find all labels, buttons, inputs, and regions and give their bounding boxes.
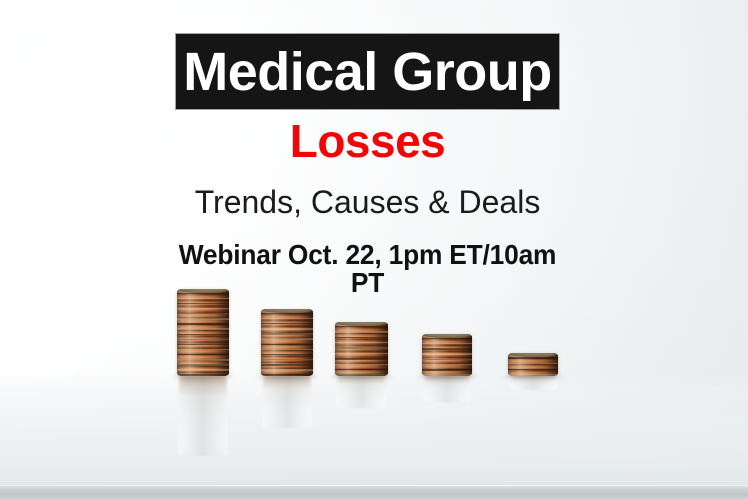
coin-edge-band xyxy=(422,348,472,349)
coin-stack-4 xyxy=(422,334,472,408)
page-title: Medical Group xyxy=(183,45,552,99)
coin-edge-band xyxy=(261,369,313,370)
coin-column xyxy=(261,309,313,376)
coin-edge-band xyxy=(177,374,229,375)
table-edge-highlight xyxy=(0,485,748,487)
coin-stack-reflection xyxy=(336,376,387,408)
coin-top-face xyxy=(509,353,557,357)
coin-stack-3 xyxy=(335,322,388,414)
coin-edge-band xyxy=(335,337,388,339)
coin-edge-band xyxy=(177,334,229,335)
coin-edge-band xyxy=(261,318,313,319)
coin-edge-band xyxy=(261,344,313,345)
subtitle: Trends, Causes & Deals xyxy=(160,186,575,218)
coin-edge-band xyxy=(177,318,229,319)
coin-edge-band xyxy=(335,342,388,344)
coin-edge-band xyxy=(177,364,229,365)
coin-edge-band xyxy=(508,374,558,376)
table-front-edge xyxy=(0,486,748,500)
coin-edge-band xyxy=(177,323,229,324)
coin-edge-band xyxy=(261,333,313,334)
coin-stack-reflection xyxy=(178,376,228,456)
coin-edge-band xyxy=(335,369,388,371)
coin-top-face xyxy=(262,309,312,313)
coin-column xyxy=(335,322,388,376)
coin-edge-band xyxy=(261,349,313,350)
coin-stack-reflection-tint xyxy=(511,376,555,380)
event-details-line: Webinar Oct. 22, 1pm ET/10am PT xyxy=(172,241,562,297)
coin-edge-band xyxy=(422,359,472,360)
coin-stack-1 xyxy=(177,289,229,462)
coin-top-face xyxy=(423,334,471,338)
coin-edge-band xyxy=(335,347,388,349)
coin-edge-band xyxy=(261,354,313,355)
coin-edge-band xyxy=(422,374,472,375)
coin-edge-band xyxy=(508,363,558,365)
coin-edge-band xyxy=(261,359,313,360)
webinar-promo-poster: Medical Group Losses Trends, Causes & De… xyxy=(0,0,748,500)
coin-edge-band xyxy=(335,374,388,376)
coin-column xyxy=(177,289,229,376)
coin-edge-band xyxy=(335,358,388,360)
coin-edge-band xyxy=(177,354,229,355)
coin-edge-band xyxy=(508,357,558,359)
coin-stack-reflection xyxy=(423,376,471,402)
coin-edge-band xyxy=(422,369,472,370)
coin-edge-band xyxy=(261,364,313,365)
coin-edge-band xyxy=(422,353,472,354)
coin-edge-band xyxy=(177,339,229,340)
coin-edge-band xyxy=(177,308,229,309)
coin-stack-reflection-tint xyxy=(425,376,469,383)
coin-edge-band xyxy=(177,349,229,350)
coin-edge-band xyxy=(177,298,229,299)
coin-stack-reflection-tint xyxy=(338,376,385,384)
coin-stack-reflection xyxy=(262,376,312,428)
coin-edge-band xyxy=(261,338,313,339)
coin-edge-band xyxy=(422,364,472,365)
coin-top-face xyxy=(336,322,387,326)
coin-edge-band xyxy=(261,374,313,375)
coin-edge-band xyxy=(261,328,313,329)
coin-edge-band xyxy=(177,328,229,329)
coin-stack-reflection-tint xyxy=(180,376,226,397)
coin-stack-5 xyxy=(508,353,558,396)
coin-edge-band xyxy=(177,344,229,345)
coin-edge-band xyxy=(261,323,313,324)
coin-stack-reflection xyxy=(509,376,557,390)
coin-edge-band xyxy=(335,331,388,333)
headline-accent-losses: Losses xyxy=(175,118,560,164)
coin-edge-band xyxy=(422,343,472,344)
coin-edge-band xyxy=(508,369,558,371)
coin-stack-2 xyxy=(261,309,313,434)
coin-edge-band xyxy=(335,353,388,355)
title-banner: Medical Group xyxy=(175,33,560,110)
coin-column xyxy=(508,353,558,376)
coin-edge-band xyxy=(177,303,229,304)
coin-edge-band xyxy=(177,369,229,370)
coin-edge-band xyxy=(335,364,388,366)
coin-stack-reflection-tint xyxy=(264,376,310,390)
coin-edge-band xyxy=(177,313,229,314)
coin-edge-band xyxy=(177,359,229,360)
coin-column xyxy=(422,334,472,376)
